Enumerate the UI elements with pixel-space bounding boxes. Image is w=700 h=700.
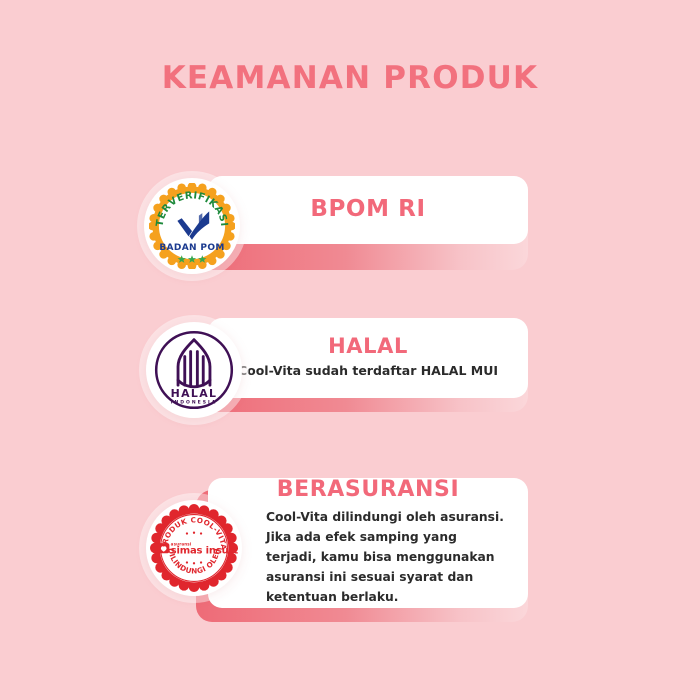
card-subtitle-halal: Cool-Vita sudah terdaftar HALAL MUI <box>238 362 498 380</box>
svg-text:INDONESIA: INDONESIA <box>171 400 217 406</box>
simas-logo-mark <box>158 543 169 553</box>
product-safety-infographic: KEAMANAN PRODUK BPOM RI <box>0 0 700 700</box>
halal-indonesia-icon: HALAL INDONESIA <box>152 328 236 412</box>
badge-disc-halal: HALAL INDONESIA HALAL INDONESIA <box>146 322 242 418</box>
card-row-halal: HALAL Cool-Vita sudah terdaftar HALAL MU… <box>0 312 700 422</box>
card-title-berasuransi: BERASURANSI <box>277 478 459 502</box>
card-row-bpom: BPOM RI <box>0 170 700 280</box>
card-row-berasuransi: BERASURANSI Cool-Vita dilindungi oleh as… <box>0 472 700 632</box>
simas-insurtech-icon: PRODUK COOL-VITA DILINDUNGI OLEH asurans… <box>150 504 238 592</box>
svg-text:BADAN POM: BADAN POM <box>159 243 224 253</box>
svg-text:simas insurtech: simas insurtech <box>171 546 238 557</box>
page-title: KEAMANAN PRODUK <box>0 60 700 96</box>
bpom-verified-icon: TERVERIFIKASI BADAN POM <box>149 183 235 269</box>
card-title-bpom: BPOM RI <box>310 197 425 222</box>
svg-text:HALAL: HALAL <box>171 387 218 400</box>
badge-disc-bpom: TERVERIFIKASI BADAN POM TERVERIFIKASI BA… <box>144 178 240 274</box>
card-title-halal: HALAL <box>328 335 408 358</box>
card-berasuransi[interactable]: BERASURANSI Cool-Vita dilindungi oleh as… <box>208 478 528 608</box>
card-bpom[interactable]: BPOM RI <box>208 176 528 244</box>
card-halal[interactable]: HALAL Cool-Vita sudah terdaftar HALAL MU… <box>208 318 528 398</box>
badge-disc-berasuransi: PRODUK COOL-VITA DILINDUNGI OLEH asurans… <box>146 500 242 596</box>
card-subtitle-berasuransi: Cool-Vita dilindungi oleh asuransi. Jika… <box>226 508 510 608</box>
